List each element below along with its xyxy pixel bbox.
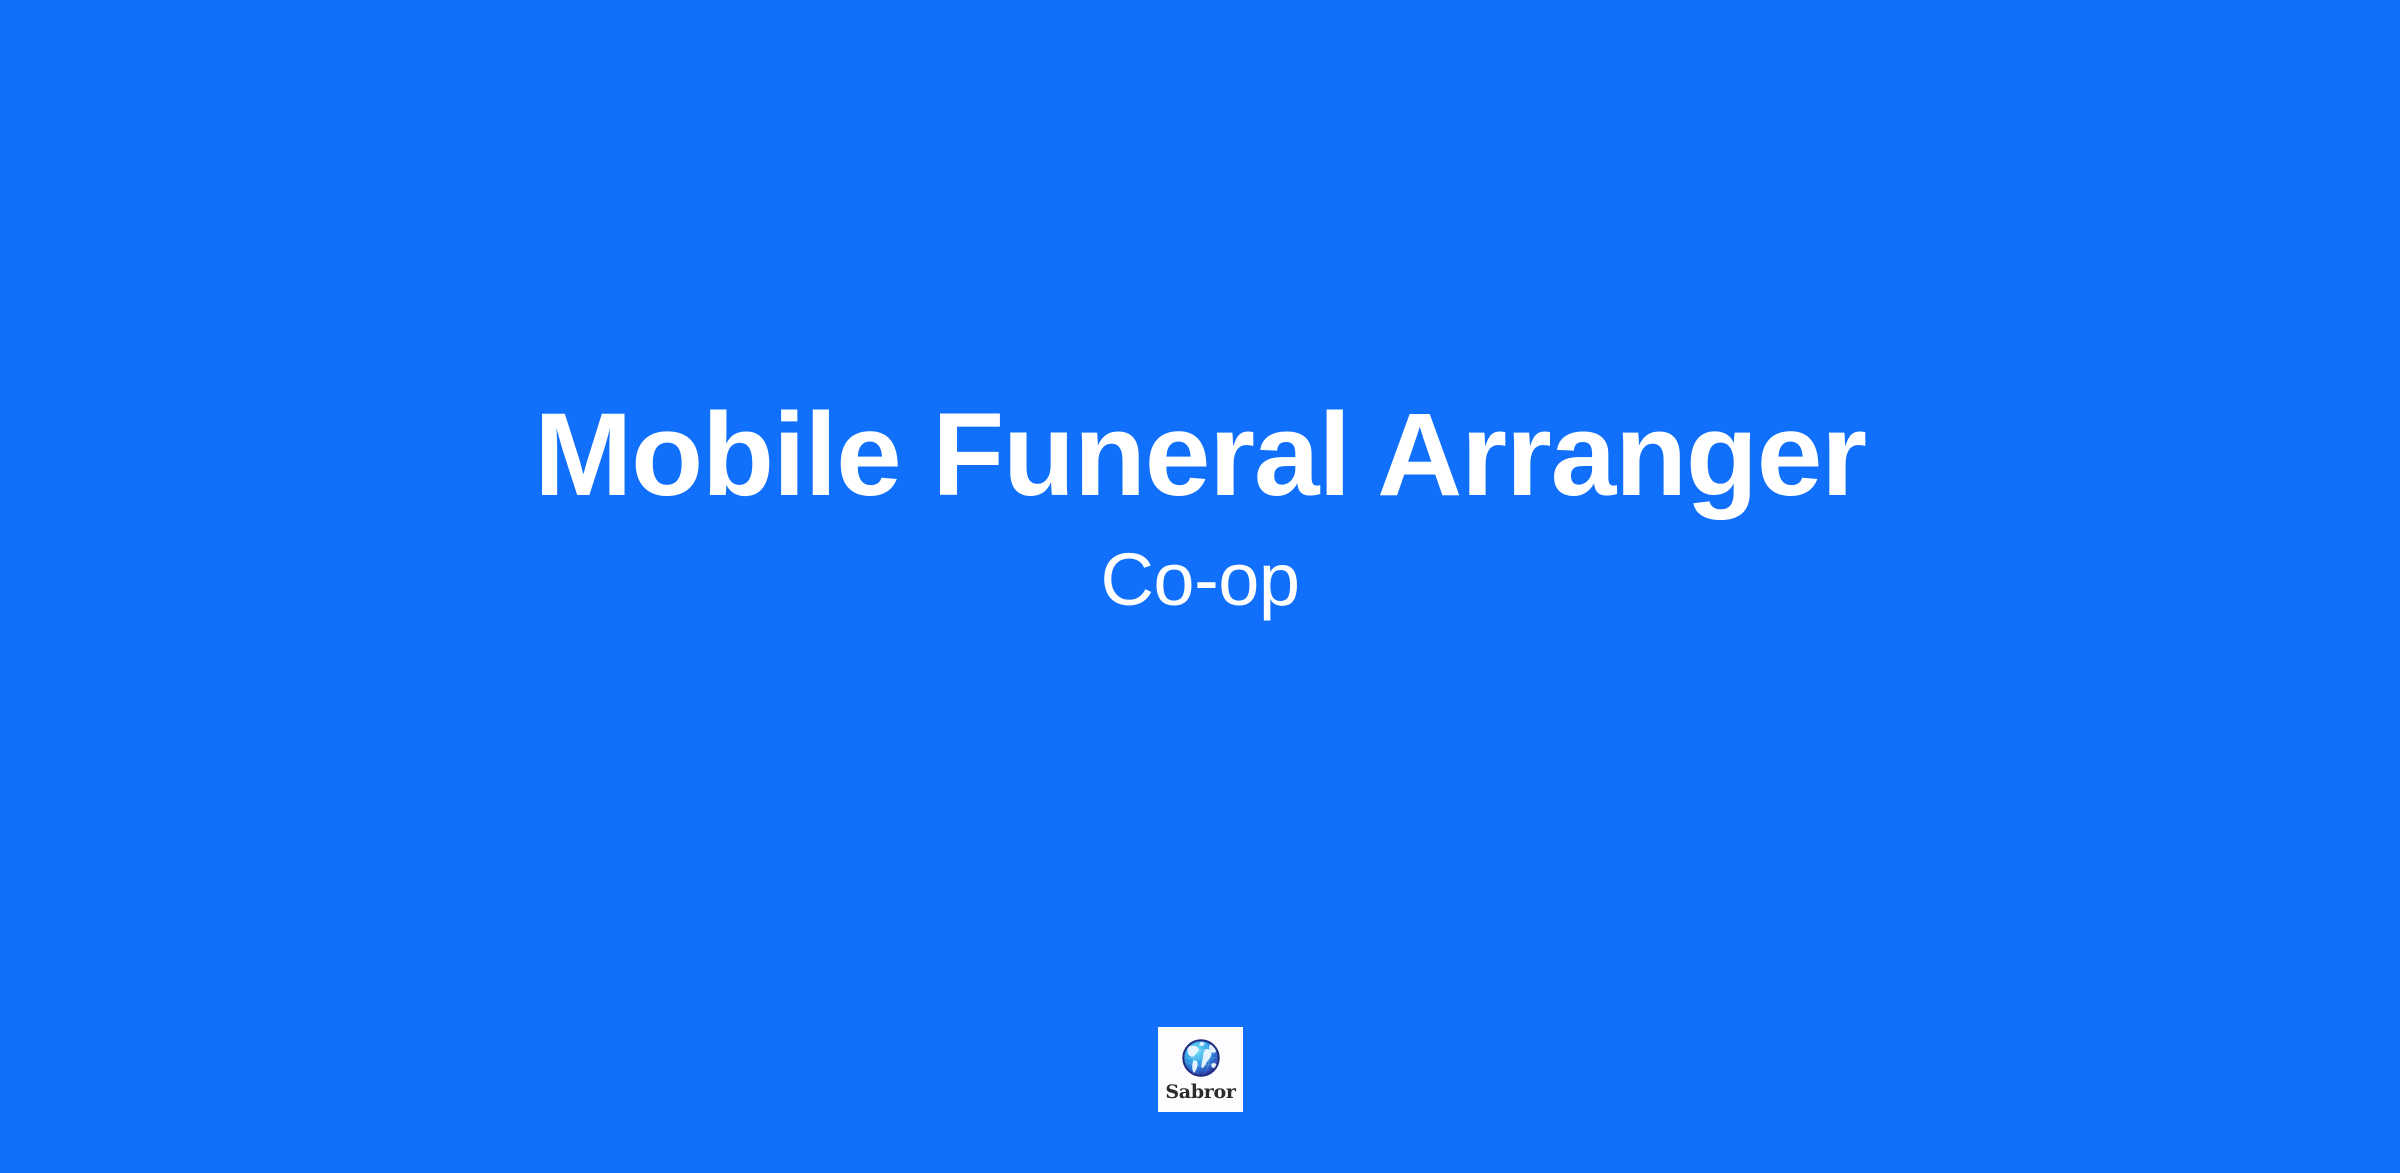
brand-logo-badge: Sabror	[1158, 1027, 1243, 1112]
page-subtitle: Co-op	[0, 542, 2400, 618]
brand-wordmark: Sabror	[1165, 1082, 1235, 1103]
hero-text-block: Mobile Funeral Arranger Co-op	[0, 0, 2400, 1173]
globe-icon	[1180, 1037, 1222, 1079]
splash-screen: Mobile Funeral Arranger Co-op	[0, 0, 2400, 1173]
page-title: Mobile Funeral Arranger	[0, 396, 2400, 514]
